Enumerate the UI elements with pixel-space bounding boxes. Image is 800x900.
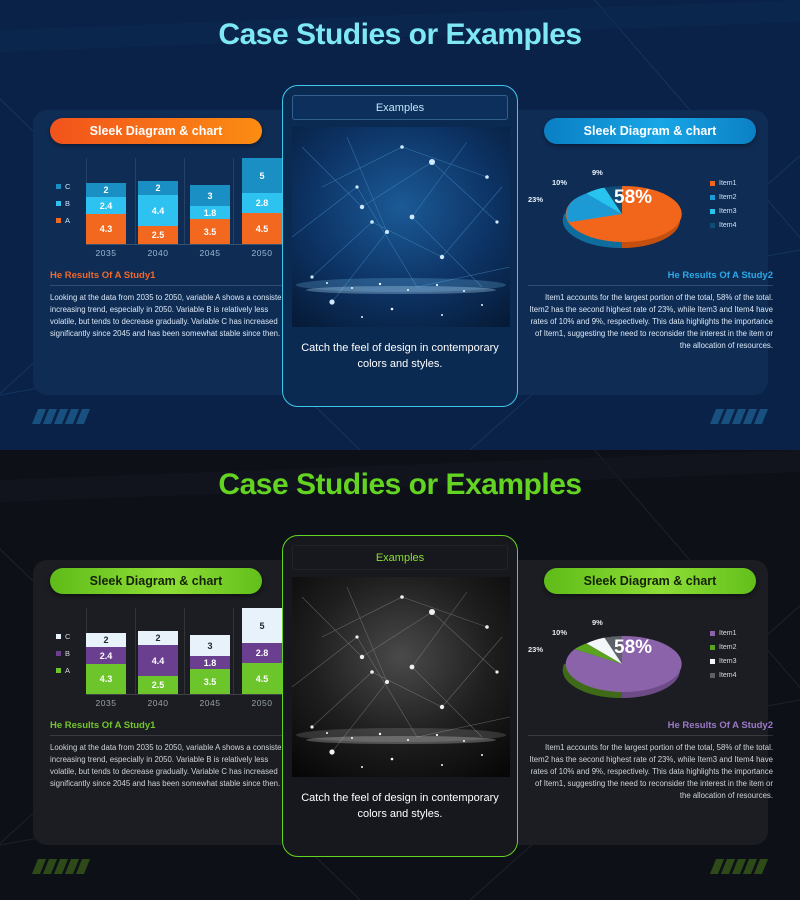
legend-item-item3: Item3 <box>710 658 737 665</box>
legend-item-c: C <box>56 182 70 191</box>
bar-segment-a: 4.3 <box>86 214 126 244</box>
bar-segment-a: 2.5 <box>138 226 178 244</box>
legend-item-item4: Item4 <box>710 672 737 679</box>
x-tick-label: 2045 <box>190 248 230 258</box>
legend-swatch-item4 <box>710 673 715 678</box>
bar-chart-bottom: C B A <box>50 608 282 712</box>
bar-group[interactable]: 2 2.4 4.3 <box>86 633 126 694</box>
results-heading-left: He Results Of A Study1 <box>50 720 295 731</box>
bar-group[interactable]: 2 4.4 2.5 <box>138 181 178 244</box>
pie-label-item3: 10% <box>552 178 567 187</box>
legend-label-item2: Item2 <box>719 194 737 201</box>
legend-item-a: A <box>56 216 70 225</box>
bar-chart-axis <box>86 694 282 695</box>
legend-swatch-b <box>56 651 61 656</box>
examples-caption: Catch the feel of design in contemporary… <box>292 341 508 373</box>
results-heading-right: He Results Of A Study2 <box>528 720 773 731</box>
legend-label-item4: Item4 <box>719 222 737 229</box>
section-top: Case Studies or Examples Sleek Diagram &… <box>0 0 800 450</box>
legend-label-item4: Item4 <box>719 672 737 679</box>
legend-item-b: B <box>56 199 70 208</box>
examples-tab[interactable]: Examples <box>292 545 508 570</box>
infographic-page: Case Studies or Examples Sleek Diagram &… <box>0 0 800 900</box>
bar-segment-a: 4.5 <box>242 213 282 244</box>
bar-chart-legend: C B A <box>56 632 70 675</box>
bar-chart-plot: 2 2.4 4.3 2 4.4 2.5 3 1.8 3.5 <box>86 158 282 244</box>
bar-group[interactable]: 2 2.4 4.3 <box>86 183 126 244</box>
results-heading-left: He Results Of A Study1 <box>50 270 295 281</box>
results-body-right: Item1 accounts for the largest portion o… <box>528 742 773 802</box>
examples-tab[interactable]: Examples <box>292 95 508 120</box>
legend-item-item3: Item3 <box>710 208 737 215</box>
page-title: Case Studies or Examples <box>0 450 800 502</box>
bar-group[interactable]: 2 4.4 2.5 <box>138 631 178 694</box>
legend-item-b: B <box>56 649 70 658</box>
column-right: Sleek Diagram & chart 58% 23% 10% <box>528 568 773 802</box>
legend-swatch-c <box>56 634 61 639</box>
bar-segment-a: 4.5 <box>242 663 282 694</box>
page-title: Case Studies or Examples <box>0 0 800 52</box>
divider <box>528 285 773 286</box>
examples-card[interactable]: Examples <box>282 85 518 407</box>
pie-center-label: 58% <box>614 187 652 209</box>
bar-segment-a: 3.5 <box>190 669 230 694</box>
bar-segment-a: 4.3 <box>86 664 126 694</box>
bar-chart-plot: 2 2.4 4.3 2 4.4 2.5 3 1.8 3.5 <box>86 608 282 694</box>
divider <box>50 285 295 286</box>
legend-swatch-c <box>56 184 61 189</box>
pie-label-item3: 10% <box>552 628 567 637</box>
column-right: Sleek Diagram & chart <box>528 118 773 352</box>
legend-label-b: B <box>65 199 70 208</box>
legend-item-c: C <box>56 632 70 641</box>
divider <box>528 735 773 736</box>
bar-segment-b: 4.4 <box>138 645 178 676</box>
bar-segment-b: 2.4 <box>86 647 126 664</box>
pie-chart-top: 58% 23% 10% 9% Item1 Item2 Item3 <box>528 154 773 262</box>
legend-swatch-a <box>56 668 61 673</box>
x-tick-label: 2050 <box>242 248 282 258</box>
sleek-diagram-chart-button-right[interactable]: Sleek Diagram & chart <box>544 568 756 594</box>
bar-segment-b: 2.8 <box>242 193 282 213</box>
bar-group[interactable]: 5 2.8 4.5 <box>242 608 282 694</box>
network-constellation-image <box>292 127 510 327</box>
x-tick-label: 2035 <box>86 698 126 708</box>
pie-chart-legend: Item1 Item2 Item3 Item4 <box>710 630 737 679</box>
decorative-slashes-right <box>713 409 765 424</box>
legend-swatch-item2 <box>710 645 715 650</box>
bar-segment-c: 5 <box>242 608 282 643</box>
results-body-right: Item1 accounts for the largest portion o… <box>528 292 773 352</box>
legend-swatch-item3 <box>710 659 715 664</box>
bar-chart-x-labels: 2035 2040 2045 2050 <box>86 248 282 258</box>
bar-segment-b: 4.4 <box>138 195 178 226</box>
legend-swatch-a <box>56 218 61 223</box>
legend-swatch-b <box>56 201 61 206</box>
bar-segment-c: 3 <box>190 185 230 206</box>
legend-label-item3: Item3 <box>719 658 737 665</box>
x-tick-label: 2040 <box>138 248 178 258</box>
x-tick-label: 2040 <box>138 698 178 708</box>
x-tick-label: 2035 <box>86 248 126 258</box>
bar-segment-a: 2.5 <box>138 676 178 694</box>
pie-label-item2: 23% <box>528 645 543 654</box>
divider <box>50 735 295 736</box>
bar-group[interactable]: 3 1.8 3.5 <box>190 635 230 694</box>
legend-label-a: A <box>65 216 70 225</box>
results-body-left: Looking at the data from 2035 to 2050, v… <box>50 292 295 340</box>
examples-caption: Catch the feel of design in contemporary… <box>292 791 508 823</box>
legend-label-item3: Item3 <box>719 208 737 215</box>
examples-card[interactable]: Examples <box>282 535 518 857</box>
bar-segment-c: 2 <box>86 183 126 197</box>
x-tick-label: 2050 <box>242 698 282 708</box>
network-constellation-image <box>292 577 510 777</box>
sleek-diagram-chart-button-left[interactable]: Sleek Diagram & chart <box>50 568 262 594</box>
x-tick-label: 2045 <box>190 698 230 708</box>
pie-label-item2: 23% <box>528 195 543 204</box>
section-bottom: Case Studies or Examples Sleek Diagram &… <box>0 450 800 900</box>
decorative-slashes-left <box>35 859 87 874</box>
legend-label-c: C <box>65 632 70 641</box>
bar-group[interactable]: 3 1.8 3.5 <box>190 185 230 244</box>
legend-label-b: B <box>65 649 70 658</box>
bar-segment-b: 2.4 <box>86 197 126 214</box>
pie-chart-bottom: 58% 23% 10% 9% Item1 Item2 Item3 <box>528 604 773 712</box>
legend-swatch-item1 <box>710 181 715 186</box>
pie-chart-legend: Item1 Item2 Item3 Item4 <box>710 180 737 229</box>
legend-label-a: A <box>65 666 70 675</box>
column-left: Sleek Diagram & chart C B A <box>50 568 295 790</box>
results-body-left: Looking at the data from 2035 to 2050, v… <box>50 742 295 790</box>
bar-segment-c: 2 <box>86 633 126 647</box>
pie-center-label: 58% <box>614 637 652 659</box>
sleek-diagram-chart-button-left[interactable]: Sleek Diagram & chart <box>50 118 262 144</box>
bar-chart-legend: C B A <box>56 182 70 225</box>
legend-label-c: C <box>65 182 70 191</box>
legend-item-a: A <box>56 666 70 675</box>
legend-item-item2: Item2 <box>710 644 737 651</box>
legend-label-item1: Item1 <box>719 180 737 187</box>
bar-chart-axis <box>86 244 282 245</box>
bar-segment-c: 2 <box>138 181 178 195</box>
sleek-diagram-chart-button-right[interactable]: Sleek Diagram & chart <box>544 118 756 144</box>
bar-segment-c: 2 <box>138 631 178 645</box>
results-heading-right: He Results Of A Study2 <box>528 270 773 281</box>
bar-segment-b: 2.8 <box>242 643 282 663</box>
bar-segment-c: 3 <box>190 635 230 656</box>
bar-chart-top: C B A <box>50 158 282 262</box>
legend-swatch-item4 <box>710 223 715 228</box>
pie-label-item4: 9% <box>592 618 603 627</box>
bar-segment-b: 1.8 <box>190 206 230 219</box>
legend-label-item1: Item1 <box>719 630 737 637</box>
legend-label-item2: Item2 <box>719 644 737 651</box>
legend-item-item2: Item2 <box>710 194 737 201</box>
column-left: Sleek Diagram & chart C B A <box>50 118 295 340</box>
pie-label-item4: 9% <box>592 168 603 177</box>
legend-item-item1: Item1 <box>710 180 737 187</box>
legend-swatch-item3 <box>710 209 715 214</box>
bar-chart-x-labels: 2035 2040 2045 2050 <box>86 698 282 708</box>
bar-group[interactable]: 5 2.8 4.5 <box>242 158 282 244</box>
bar-segment-c: 5 <box>242 158 282 193</box>
legend-item-item4: Item4 <box>710 222 737 229</box>
legend-swatch-item2 <box>710 195 715 200</box>
decorative-slashes-left <box>35 409 87 424</box>
bar-segment-a: 3.5 <box>190 219 230 244</box>
bar-segment-b: 1.8 <box>190 656 230 669</box>
legend-swatch-item1 <box>710 631 715 636</box>
legend-item-item1: Item1 <box>710 630 737 637</box>
decorative-slashes-right <box>713 859 765 874</box>
